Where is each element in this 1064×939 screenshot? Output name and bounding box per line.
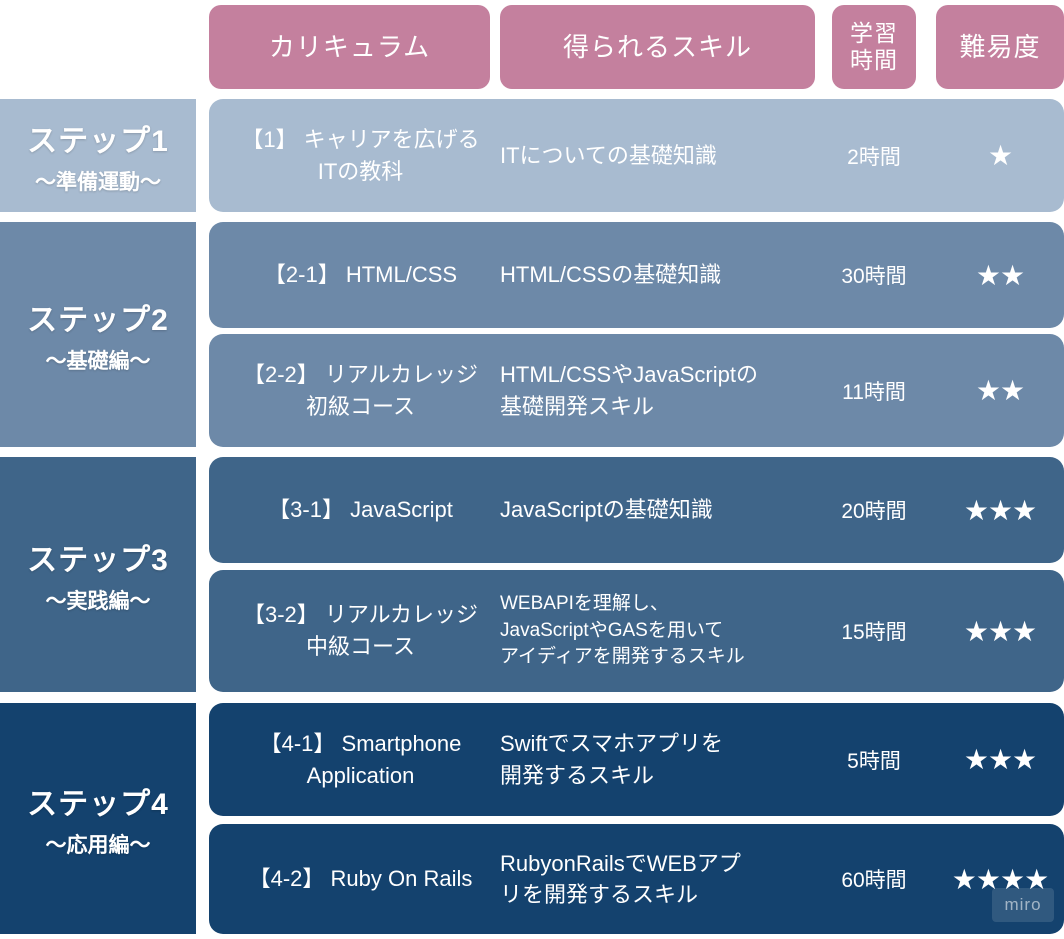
skill-line-1: JavaScriptの基礎知識 xyxy=(500,497,713,522)
column-header-curriculum: カリキュラム xyxy=(209,5,490,89)
skill-line-1: Swiftでスマホアプリを xyxy=(500,731,723,756)
cell-study-hours: 20時間 xyxy=(832,457,916,563)
cell-difficulty-stars: ★★★ xyxy=(936,703,1064,816)
step-subtitle: 〜基礎編〜 xyxy=(46,345,151,375)
cell-study-hours: 5時間 xyxy=(832,703,916,816)
step-block-1[interactable]: ステップ1〜準備運動〜 xyxy=(0,99,196,212)
star-icon-group: ★★★ xyxy=(964,494,1036,527)
step-title: ステップ3 xyxy=(27,535,169,579)
skill-line-2: 基礎開発スキル xyxy=(500,394,654,419)
curriculum-line-1: Ruby On Rails xyxy=(331,866,473,891)
cell-study-hours: 60時間 xyxy=(832,824,916,934)
curriculum-line-1: リアルカレッジ xyxy=(325,602,478,627)
curriculum-line-2: Application xyxy=(307,763,415,788)
column-header-hours-line2: 時間 xyxy=(850,47,898,73)
step-subtitle: 〜実践編〜 xyxy=(46,585,151,615)
skill-line-3: アイディアを開発するスキル xyxy=(500,646,745,667)
table-row[interactable]: 【3-1】 JavaScriptJavaScriptの基礎知識20時間★★★ xyxy=(209,457,1064,563)
star-icon-group: ★★ xyxy=(976,259,1024,292)
table-row[interactable]: 【4-2】 Ruby On RailsRubyonRailsでWEBアプリを開発… xyxy=(209,824,1064,934)
skill-line-1: RubyonRailsでWEBアプ xyxy=(500,851,741,876)
column-header-hours-line1: 学習 xyxy=(850,20,898,46)
table-header-row: カリキュラム 得られるスキル 学習 時間 難易度 xyxy=(0,0,1064,92)
cell-difficulty-stars: ★★ xyxy=(936,222,1064,328)
curriculum-line-1: Smartphone xyxy=(342,731,462,756)
cell-curriculum: 【4-1】 SmartphoneApplication xyxy=(218,703,503,816)
cell-difficulty-stars: ★★ xyxy=(936,334,1064,447)
column-header-curriculum-label: カリキュラム xyxy=(269,32,430,63)
step-title: ステップ1 xyxy=(27,116,169,160)
cell-study-hours: 15時間 xyxy=(832,570,916,692)
star-icon-group: ★★★ xyxy=(964,743,1036,776)
curriculum-line-2: 中級コース xyxy=(306,634,415,659)
curriculum-line-1: JavaScript xyxy=(350,497,453,522)
step-block-4[interactable]: ステップ4〜応用編〜 xyxy=(0,703,196,934)
cell-curriculum: 【4-2】 Ruby On Rails xyxy=(218,824,503,934)
step-subtitle: 〜応用編〜 xyxy=(46,829,151,859)
curriculum-index-label: 【2-1】 xyxy=(264,262,346,287)
cell-skills: ITについての基礎知識 xyxy=(500,99,830,212)
step-block-3[interactable]: ステップ3〜実践編〜 xyxy=(0,457,196,692)
skill-line-1: HTML/CSSの基礎知識 xyxy=(500,262,721,287)
curriculum-line-1: キャリアを広げる xyxy=(304,127,480,152)
step-title: ステップ4 xyxy=(27,779,169,823)
cell-curriculum: 【1】 キャリアを広げるITの教科 xyxy=(218,99,503,212)
cell-difficulty-stars: ★ xyxy=(936,99,1064,212)
column-header-hours: 学習 時間 xyxy=(832,5,916,89)
cell-skills: HTML/CSSやJavaScriptの基礎開発スキル xyxy=(500,334,830,447)
cell-study-hours: 11時間 xyxy=(832,334,916,447)
step-title: ステップ2 xyxy=(27,295,169,339)
curriculum-line-1: HTML/CSS xyxy=(346,262,457,287)
cell-curriculum: 【3-1】 JavaScript xyxy=(218,457,503,563)
cell-difficulty-stars: ★★★ xyxy=(936,457,1064,563)
cell-skills: HTML/CSSの基礎知識 xyxy=(500,222,830,328)
skill-line-1: WEBAPIを理解し、 xyxy=(500,593,669,614)
column-header-difficulty: 難易度 xyxy=(936,5,1064,89)
cell-study-hours: 30時間 xyxy=(832,222,916,328)
column-header-skills: 得られるスキル xyxy=(500,5,815,89)
curriculum-line-1: リアルカレッジ xyxy=(325,362,478,387)
column-header-hours-label: 学習 時間 xyxy=(850,20,898,74)
skill-line-2: 開発するスキル xyxy=(500,763,654,788)
curriculum-index-label: 【1】 xyxy=(241,127,303,152)
header-corner-spacer xyxy=(0,0,200,92)
curriculum-index-label: 【4-1】 xyxy=(260,731,342,756)
table-row[interactable]: 【2-2】 リアルカレッジ初級コースHTML/CSSやJavaScriptの基礎… xyxy=(209,334,1064,447)
curriculum-line-2: 初級コース xyxy=(306,394,415,419)
curriculum-roadmap-table: カリキュラム 得られるスキル 学習 時間 難易度 ステップ1〜準備運動〜【1】 … xyxy=(0,0,1064,939)
curriculum-index-label: 【4-2】 xyxy=(249,866,331,891)
curriculum-line-2: ITの教科 xyxy=(318,159,404,184)
curriculum-index-label: 【3-2】 xyxy=(243,602,325,627)
table-row[interactable]: 【4-1】 SmartphoneApplicationSwiftでスマホアプリを… xyxy=(209,703,1064,816)
step-subtitle: 〜準備運動〜 xyxy=(35,166,161,196)
step-block-2[interactable]: ステップ2〜基礎編〜 xyxy=(0,222,196,447)
cell-skills: RubyonRailsでWEBアプリを開発するスキル xyxy=(500,824,830,934)
skill-line-2: リを開発するスキル xyxy=(500,882,698,907)
cell-difficulty-stars: ★★★ xyxy=(936,570,1064,692)
table-row[interactable]: 【1】 キャリアを広げるITの教科ITについての基礎知識2時間★ xyxy=(209,99,1064,212)
star-icon-group: ★★★ xyxy=(964,615,1036,648)
cell-skills: WEBAPIを理解し、JavaScriptやGASを用いてアイディアを開発するス… xyxy=(500,570,830,692)
star-icon-group: ★ xyxy=(988,139,1012,172)
cell-curriculum: 【2-2】 リアルカレッジ初級コース xyxy=(218,334,503,447)
cell-curriculum: 【3-2】 リアルカレッジ中級コース xyxy=(218,570,503,692)
cell-skills: JavaScriptの基礎知識 xyxy=(500,457,830,563)
cell-skills: Swiftでスマホアプリを開発するスキル xyxy=(500,703,830,816)
miro-watermark: miro xyxy=(992,888,1054,922)
column-header-difficulty-label: 難易度 xyxy=(959,32,1040,63)
table-row[interactable]: 【2-1】 HTML/CSSHTML/CSSの基礎知識30時間★★ xyxy=(209,222,1064,328)
curriculum-index-label: 【2-2】 xyxy=(243,362,325,387)
skill-line-1: ITについての基礎知識 xyxy=(500,143,717,168)
column-header-skills-label: 得られるスキル xyxy=(563,32,752,63)
cell-study-hours: 2時間 xyxy=(832,99,916,212)
skill-line-2: JavaScriptやGASを用いて xyxy=(500,620,723,641)
cell-curriculum: 【2-1】 HTML/CSS xyxy=(218,222,503,328)
curriculum-index-label: 【3-1】 xyxy=(268,497,350,522)
table-row[interactable]: 【3-2】 リアルカレッジ中級コースWEBAPIを理解し、JavaScriptや… xyxy=(209,570,1064,692)
skill-line-1: HTML/CSSやJavaScriptの xyxy=(500,362,758,387)
star-icon-group: ★★ xyxy=(976,374,1024,407)
